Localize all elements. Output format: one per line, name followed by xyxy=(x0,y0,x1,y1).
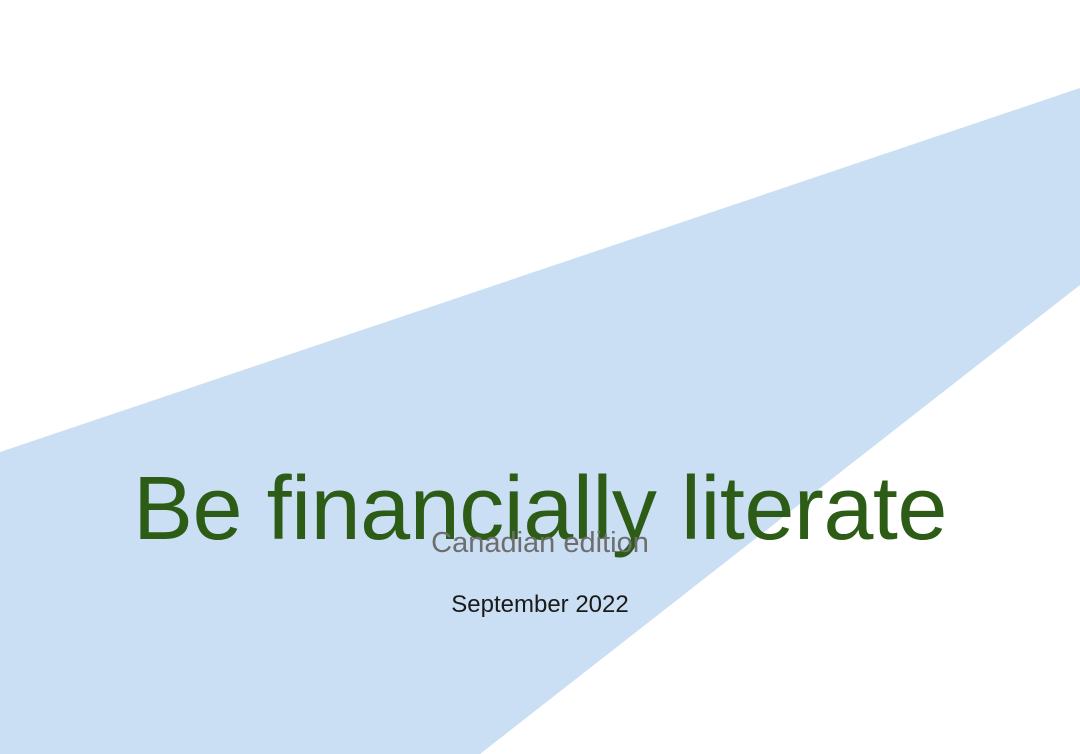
slide-date: September 2022 xyxy=(0,591,1080,620)
slide-subtitle: Canadian edition xyxy=(0,526,1080,561)
title-slide: Be financially literate Canadian edition… xyxy=(0,0,1080,754)
slide-text-stack: Be financially literate Canadian edition… xyxy=(0,0,1080,754)
